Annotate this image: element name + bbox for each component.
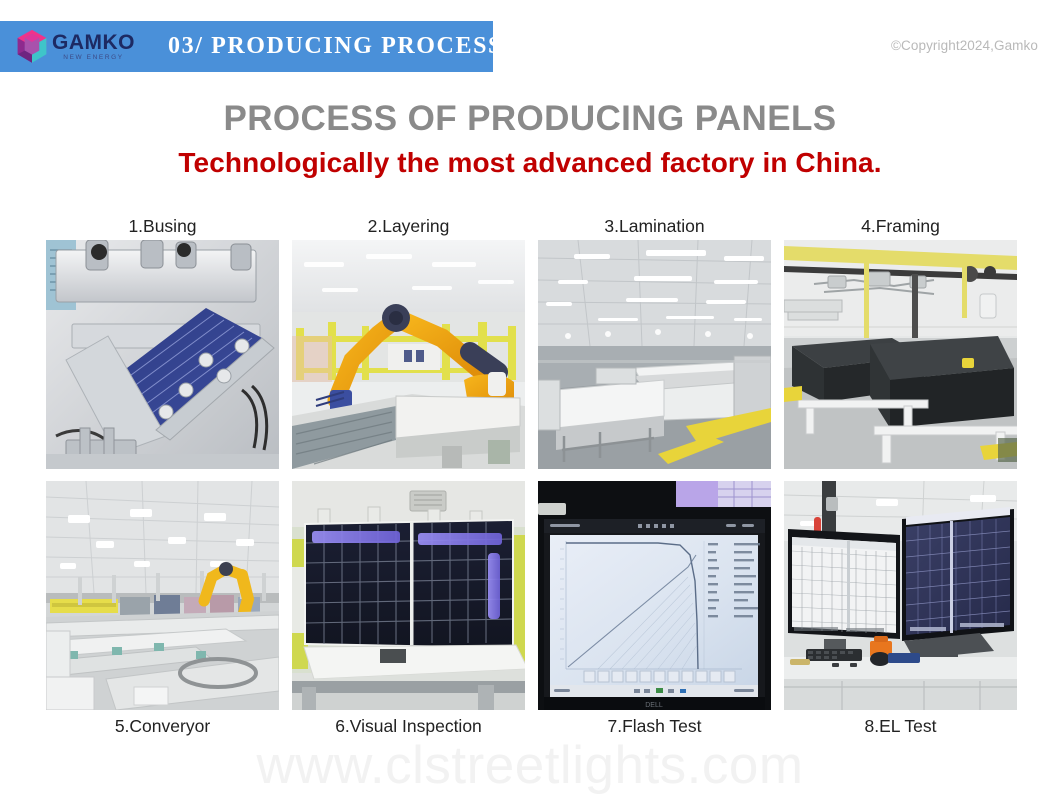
step-image-flash-test: DELL [538,481,771,710]
process-step-4: 4.Framing [784,218,1017,469]
step-image-busing [46,240,279,469]
page-subtitle: Technologically the most advanced factor… [0,147,1060,179]
step-caption: 6.Visual Inspection [292,718,525,740]
logo-text: GAMKO NEW ENERGY [52,32,135,62]
process-step-2: 2.Layering [292,218,525,469]
step-caption: 2.Layering [292,218,525,240]
process-step-1: 1.Busing [46,218,279,469]
section-title: 03/ PRODUCING PROCESS [168,33,503,60]
step-caption: 5.Converyor [46,718,279,740]
process-step-5: 5.Converyor [46,481,279,740]
step-caption: 4.Framing [784,218,1017,240]
process-step-7: DELL 7.Flash Test [538,481,771,740]
step-image-framing [784,240,1017,469]
step-caption: 1.Busing [46,218,279,240]
step-image-layering [292,240,525,469]
step-caption: 7.Flash Test [538,718,771,740]
process-row-1: 1.Busing [46,218,1014,469]
process-step-8: 8.EL Test [784,481,1017,740]
brand-logo: GAMKO NEW ENERGY [14,28,135,66]
process-step-6: 6.Visual Inspection [292,481,525,740]
step-caption: 3.Lamination [538,218,771,240]
process-row-2: 5.Converyor [46,481,1014,740]
step-caption: 8.EL Test [784,718,1017,740]
header-band: GAMKO NEW ENERGY 03/ PRODUCING PROCESS [0,21,493,72]
process-step-3: 3.Lamination [538,218,771,469]
copyright-notice: ©Copyright2024,Gamko [891,38,1038,53]
logo-tagline: NEW ENERGY [52,55,135,62]
step-image-visual-inspection [292,481,525,710]
logo-name: GAMKO [52,32,135,53]
process-grid: 1.Busing [46,218,1014,740]
step-image-conveyor [46,481,279,710]
step-image-el-test [784,481,1017,710]
svg-text:DELL: DELL [645,702,663,709]
cube-logo-icon [14,28,50,66]
page-title: PROCESS OF PRODUCING PANELS [0,99,1060,139]
step-image-lamination [538,240,771,469]
site-watermark: www.clstreetlights.com [0,735,1060,796]
